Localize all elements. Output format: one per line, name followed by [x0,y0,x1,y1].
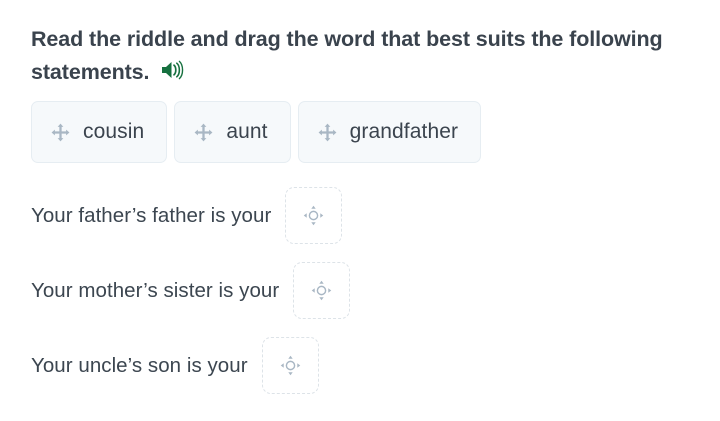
move-arrows-icon [194,123,213,142]
chip-label: cousin [83,120,144,144]
statement-text: Your father’s father is your [31,204,271,228]
instruction-prompt: Read the riddle and drag the word that b… [31,23,671,89]
statement-row: Your mother’s sister is your [31,253,691,328]
draggable-word-chip[interactable]: aunt [174,101,290,163]
statement-text: Your uncle’s son is your [31,354,248,378]
move-crosshair-icon [303,205,324,226]
chip-label: aunt [226,120,267,144]
statement-text: Your mother’s sister is your [31,279,279,303]
draggable-word-chip[interactable]: grandfather [298,101,482,163]
speaker-volume-icon[interactable] [160,59,184,81]
chip-label: grandfather [350,120,459,144]
move-arrows-icon [318,123,337,142]
statement-row: Your father’s father is your [31,178,691,253]
answer-dropzone[interactable] [293,262,350,319]
move-crosshair-icon [280,355,301,376]
statement-row: Your uncle’s son is your [31,328,691,403]
move-crosshair-icon [311,280,332,301]
move-arrows-icon [51,123,70,142]
statement-list: Your father’s father is your Your mother… [31,178,691,403]
draggable-word-chip[interactable]: cousin [31,101,167,163]
exercise-page: Read the riddle and drag the word that b… [0,0,720,421]
instruction-text: Read the riddle and drag the word that b… [31,27,663,84]
word-bank: cousin aunt grandfather [31,101,481,163]
answer-dropzone[interactable] [262,337,319,394]
answer-dropzone[interactable] [285,187,342,244]
